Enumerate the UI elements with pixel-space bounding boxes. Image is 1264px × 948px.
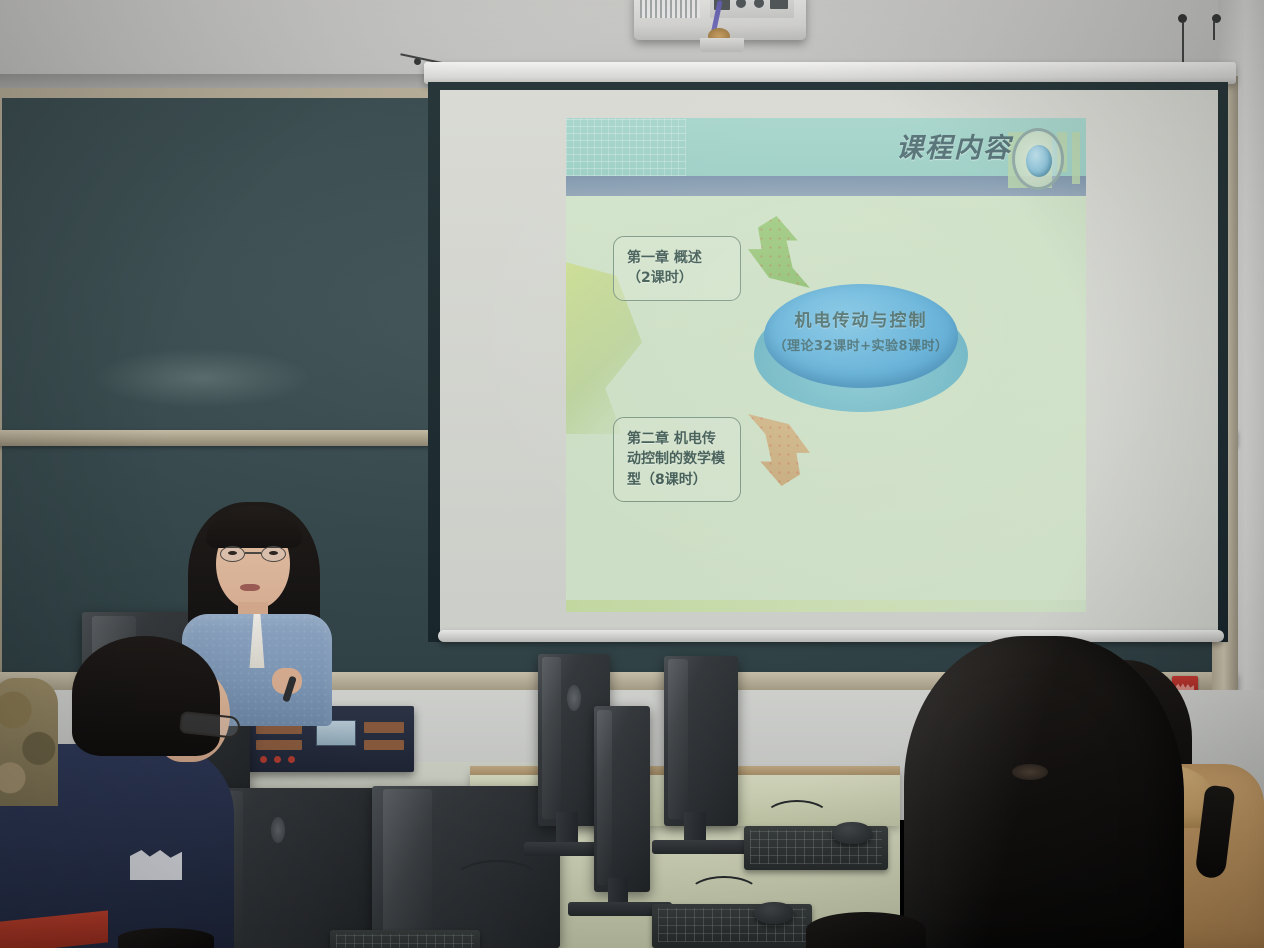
mouse-1[interactable]	[832, 822, 872, 844]
course-title: 机电传动与控制	[754, 306, 968, 331]
student-head-bottom	[806, 912, 926, 948]
slide-footer-band	[566, 600, 1086, 612]
chapter-box-2: 第二章 机电传动控制的数学模型（8课时）	[613, 417, 741, 502]
student-left-hair	[72, 636, 220, 756]
student-r1-hair	[904, 636, 1184, 948]
monitor-6	[664, 656, 738, 826]
mouse-cable	[764, 800, 830, 834]
arrow-texture	[748, 414, 810, 486]
presenter-mouth	[240, 584, 260, 591]
student-r1-hair-part	[1012, 764, 1048, 780]
arrow-to-center-upper-icon	[748, 216, 810, 288]
projection-screen-roller	[424, 62, 1236, 84]
slide-header-pattern	[566, 118, 686, 176]
presenter-eye	[269, 551, 278, 555]
projector-mount	[700, 38, 744, 52]
globe-emblem-icon	[1012, 128, 1064, 190]
course-center-ellipse: 机电传动与控制 （理论32课时+实验8课时）	[754, 284, 968, 412]
student-right-dark-hair	[904, 636, 1184, 948]
student-head-bottom	[118, 928, 214, 948]
course-hours: （理论32课时+实验8课时）	[754, 335, 968, 354]
projector-port-panel	[710, 0, 794, 18]
arrow-texture	[748, 216, 810, 288]
monitor-4-neck	[556, 812, 578, 846]
monitor-logo-icon	[271, 817, 285, 843]
monitor-6-stand	[652, 840, 748, 854]
monitor-logo-icon	[567, 685, 581, 711]
camo-bag	[0, 678, 58, 806]
chapter-box-1: 第一章 概述 （2课时）	[613, 236, 741, 301]
arrow-to-center-lower-icon	[748, 414, 810, 486]
presentation-slide: 课程内容 第一章 概述 （2课时） 第二章 机电传动控制的数学模型（8课时） 机…	[566, 118, 1086, 612]
mouse-cable	[688, 876, 760, 912]
classroom-scene: 课程内容 第一章 概述 （2课时） 第二章 机电传动控制的数学模型（8课时） 机…	[0, 0, 1264, 948]
keyboard-3[interactable]	[330, 930, 480, 948]
monitor-5	[594, 706, 650, 892]
ellipse-text-group: 机电传动与控制 （理论32课时+实验8课时）	[754, 306, 968, 354]
slide-title: 课程内容	[896, 126, 1012, 165]
mouse-2[interactable]	[754, 902, 794, 924]
presenter-eye	[228, 551, 237, 555]
desk-cable	[452, 860, 542, 904]
ceiling-wire	[1213, 22, 1215, 40]
projector-vent-icon	[640, 0, 700, 18]
projection-screen: 课程内容 第一章 概述 （2课时） 第二章 机电传动控制的数学模型（8课时） 机…	[440, 90, 1218, 632]
